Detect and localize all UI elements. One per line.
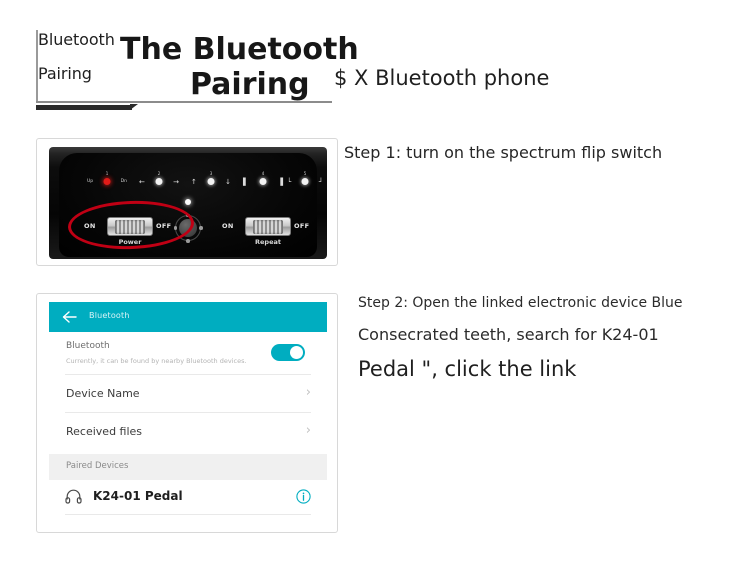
indicator-group-1: 1 Up Dn — [87, 173, 127, 191]
step2-phone-card: Bluetooth Bluetooth Currently, it can be… — [36, 293, 338, 533]
knob-dot-bottom — [186, 239, 190, 243]
indicator-group-3: 3 ↑ ↓ — [191, 173, 231, 191]
step2-instruction-block: Step 2: Open the linked electronic devic… — [358, 296, 750, 380]
chevron-right-icon: › — [306, 423, 311, 438]
indicator-number-5: 5 — [304, 171, 307, 176]
bar-right-icon: ▐ — [278, 179, 283, 186]
indicator-label-up: Up — [87, 179, 93, 184]
header-side-note: $ X Bluetooth phone — [334, 68, 549, 89]
bluetooth-toggle-sublabel: Currently, it can be found by nearby Blu… — [66, 357, 247, 365]
settings-row-device-name[interactable]: Device Name › — [49, 375, 327, 412]
repeat-switch-name: Repeat — [245, 238, 291, 246]
bluetooth-topbar-title: Bluetooth — [89, 311, 130, 320]
indicator-number-2: 2 — [158, 171, 161, 176]
page-title-line2: Pairing — [190, 70, 310, 100]
indicator-number-4: 4 — [262, 171, 265, 176]
header-rule-long — [36, 101, 332, 103]
chevron-right-icon: › — [306, 385, 311, 400]
indicator-label-dn: Dn — [121, 179, 127, 184]
arrow-up-icon: ↑ — [191, 179, 197, 186]
indicator-led-5 — [302, 178, 309, 185]
repeat-switch[interactable] — [245, 217, 291, 236]
step2-line2: Consecrated teeth, search for K24-01 — [358, 327, 750, 343]
repeat-switch-knob[interactable] — [253, 220, 283, 234]
bar-left-icon: ▌ — [243, 179, 248, 186]
arrow-right-icon: → — [173, 179, 179, 186]
row-divider — [65, 514, 311, 515]
arrow-left-icon: ← — [139, 179, 145, 186]
header-tag-line1: Bluetooth — [38, 32, 115, 48]
paired-devices-section-label: Paired Devices — [66, 461, 128, 471]
bluetooth-toggle-knob — [290, 346, 303, 359]
indicator-led-2 — [156, 178, 163, 185]
step1-device-card: 1 Up Dn 2 ← → 3 ↑ ↓ — [36, 138, 338, 266]
page-root: Bluetooth Pairing The Bluetooth Pairing … — [0, 0, 750, 563]
header-rule-thick — [36, 105, 132, 110]
bluetooth-toggle-label: Bluetooth — [66, 341, 110, 351]
loop-right-icon: ┘ — [319, 179, 323, 186]
page-header: Bluetooth Pairing The Bluetooth Pairing … — [0, 0, 750, 120]
device-panel: 1 Up Dn 2 ← → 3 ↑ ↓ — [49, 147, 327, 259]
paired-device-name: K24-01 Pedal — [93, 489, 183, 503]
repeat-switch-group[interactable]: ON OFF Repeat — [219, 217, 319, 251]
indicator-number-3: 3 — [210, 171, 213, 176]
bluetooth-settings-screen: Bluetooth Bluetooth Currently, it can be… — [49, 302, 327, 524]
paired-device-row[interactable] — [49, 480, 327, 514]
status-led — [185, 199, 191, 205]
arrow-down-icon: ↓ — [225, 179, 231, 186]
repeat-switch-off-label: OFF — [294, 222, 309, 230]
loop-left-icon: └ — [287, 179, 291, 186]
page-title-line1: The Bluetooth — [120, 35, 359, 65]
indicator-led-4 — [260, 178, 267, 185]
indicator-group-5: 5 └ ┘ — [287, 173, 323, 191]
header-tag-line2: Pairing — [38, 66, 92, 82]
indicator-led-1 — [104, 178, 111, 185]
headphones-icon — [65, 489, 82, 504]
knob-dot-right — [199, 226, 203, 230]
step2-line3: Pedal ", click the link — [358, 359, 750, 380]
info-icon[interactable] — [296, 489, 311, 504]
indicator-group-2: 2 ← → — [139, 173, 179, 191]
bluetooth-topbar: Bluetooth — [49, 302, 327, 332]
back-arrow-icon[interactable] — [61, 309, 78, 325]
repeat-switch-on-label: ON — [222, 222, 234, 230]
indicator-led-3 — [208, 178, 215, 185]
indicator-number-1: 1 — [106, 171, 109, 176]
bluetooth-toggle-switch[interactable] — [271, 344, 305, 361]
step2-line1: Step 2: Open the linked electronic devic… — [358, 296, 750, 310]
step1-instruction-text: Step 1: turn on the spectrum flip switch — [344, 143, 662, 162]
device-name-label: Device Name — [66, 387, 140, 400]
indicator-group-4: 4 ▌ ▐ — [243, 173, 283, 191]
settings-row-received-files[interactable]: Received files › — [49, 413, 327, 450]
header-rule-tail — [130, 104, 138, 110]
received-files-label: Received files — [66, 425, 142, 438]
